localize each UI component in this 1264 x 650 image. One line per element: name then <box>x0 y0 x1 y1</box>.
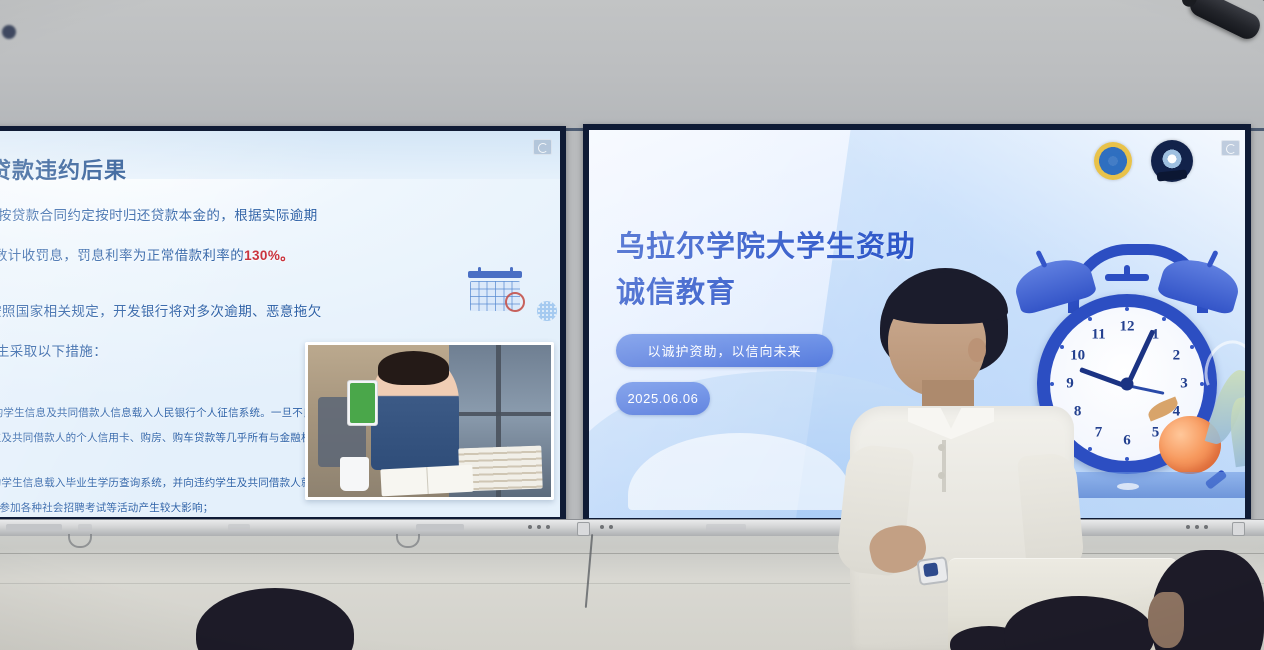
calendar-date-marker <box>505 292 525 312</box>
photo-person-hair <box>378 351 448 384</box>
clock-tick <box>1190 345 1194 349</box>
tagline-pill: 以诚护资助，以信向未来 <box>616 334 833 367</box>
clock-numeral-11: 11 <box>1091 326 1105 343</box>
clock-tick <box>1200 382 1204 386</box>
paragraph-2-text: 天数计收罚息，罚息利率为正常借款利率的 <box>0 248 244 263</box>
rail-control-button[interactable] <box>577 522 590 536</box>
wristwatch <box>916 556 949 586</box>
clock-numeral-3: 3 <box>1180 376 1188 393</box>
photo-phone <box>347 380 378 426</box>
title-line-1: 乌拉尔学院大学生资助 <box>616 224 916 270</box>
photo-cup <box>340 457 369 490</box>
left-slide-paragraph-4: 学生采取以下措施： <box>0 335 107 369</box>
screen-corner-icon <box>533 139 552 155</box>
date-pill: 2025.06.06 <box>616 382 710 415</box>
clock-tick <box>1125 307 1129 311</box>
left-slide-paragraph-1: 未按贷款合同约定按时归还贷款本金的，根据实际逾期 <box>0 199 318 233</box>
upper-wall <box>0 0 1264 131</box>
institute-emblem-navy-icon <box>1151 140 1193 182</box>
shirt-graphic <box>968 476 1004 490</box>
left-slide-small-4: 业、参加各种社会招聘考试等活动产生较大影响； <box>0 497 213 517</box>
left-slide-paragraph-2: 天数计收罚息，罚息利率为正常借款利率的130%。 <box>0 239 294 273</box>
classroom-scene: 学贷款违约后果 未按贷款合同约定按时归还贷款本金的，根据实际逾期 天数计收罚息，… <box>0 0 1264 650</box>
left-display-frame: 学贷款违约后果 未按贷款合同约定按时归还贷款本金的，根据实际逾期 天数计收罚息，… <box>0 126 566 522</box>
clock-numeral-6: 6 <box>1123 432 1131 449</box>
dotted-circle-decoration <box>537 301 557 321</box>
penalty-rate-highlight: 130%。 <box>244 248 294 263</box>
slide-photo <box>305 342 554 500</box>
clock-numeral-7: 7 <box>1095 425 1103 442</box>
calendar-graphic <box>464 271 526 315</box>
clock-tick <box>1125 457 1129 461</box>
left-slide-title: 学贷款违约后果 <box>0 153 127 185</box>
left-slide-paragraph-3: 按照国家相关规定，开发银行将对多次逾期、恶意拖欠 <box>0 295 322 329</box>
clock-numeral-2: 2 <box>1173 347 1181 364</box>
left-screen[interactable]: 学贷款违约后果 未按贷款合同约定按时归还贷款本金的，根据实际逾期 天数计收罚息，… <box>0 131 560 517</box>
rail-control-button[interactable] <box>1232 522 1245 536</box>
left-slide: 学贷款违约后果 未按贷款合同约定按时归还贷款本金的，根据实际逾期 天数计收罚息，… <box>0 131 560 517</box>
screen-corner-icon <box>1221 140 1240 156</box>
clock-numeral-5: 5 <box>1152 425 1160 442</box>
clock-tick <box>1162 317 1166 321</box>
university-emblem-gold-icon <box>1094 142 1132 180</box>
photo-open-book <box>380 464 474 496</box>
wall-marking <box>2 25 16 39</box>
audience-face-right <box>1148 592 1184 648</box>
clock-tick <box>1088 317 1092 321</box>
clock-numeral-12: 12 <box>1120 319 1135 336</box>
clock-tick <box>1088 447 1092 451</box>
